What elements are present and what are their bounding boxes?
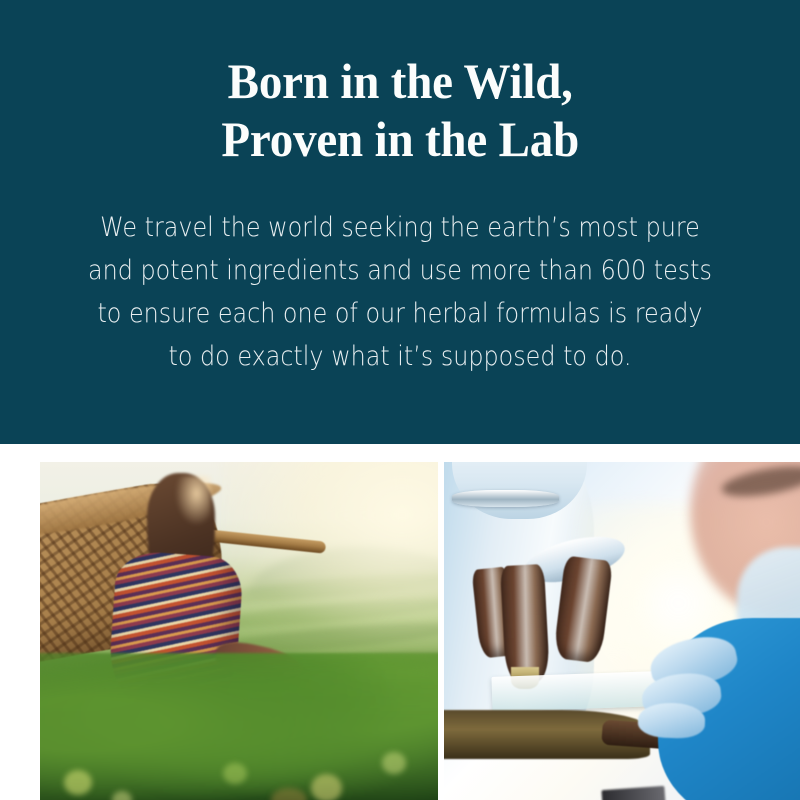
photo-lab-microscope bbox=[444, 462, 800, 800]
promo-canvas: Born in the Wild, Proven in the Lab We t… bbox=[0, 0, 800, 800]
photo-strip bbox=[0, 446, 800, 800]
headline-line-2: Proven in the Lab bbox=[221, 110, 579, 168]
microscope-focus-ring bbox=[452, 490, 559, 506]
photo-tea-harvester bbox=[40, 462, 438, 800]
harvester-head-highlight bbox=[175, 476, 211, 526]
tea-field-scene bbox=[40, 462, 438, 800]
objective-lens bbox=[500, 564, 550, 683]
bokeh-highlight bbox=[382, 752, 406, 773]
bokeh-highlight bbox=[112, 791, 132, 800]
bokeh-highlight bbox=[64, 770, 92, 795]
hero-text-panel: Born in the Wild, Proven in the Lab We t… bbox=[0, 0, 800, 444]
body-paragraph: We travel the world seeking the earth’s … bbox=[85, 168, 715, 378]
specimen-strip bbox=[602, 786, 666, 800]
bokeh-highlight bbox=[223, 763, 247, 784]
bokeh-highlight bbox=[311, 774, 343, 800]
page-title: Born in the Wild, Proven in the Lab bbox=[221, 0, 579, 168]
headline-line-1: Born in the Wild, bbox=[221, 52, 579, 110]
sun-haze bbox=[223, 462, 438, 653]
laboratory-scene bbox=[444, 462, 800, 800]
microscope-slide bbox=[491, 671, 658, 712]
